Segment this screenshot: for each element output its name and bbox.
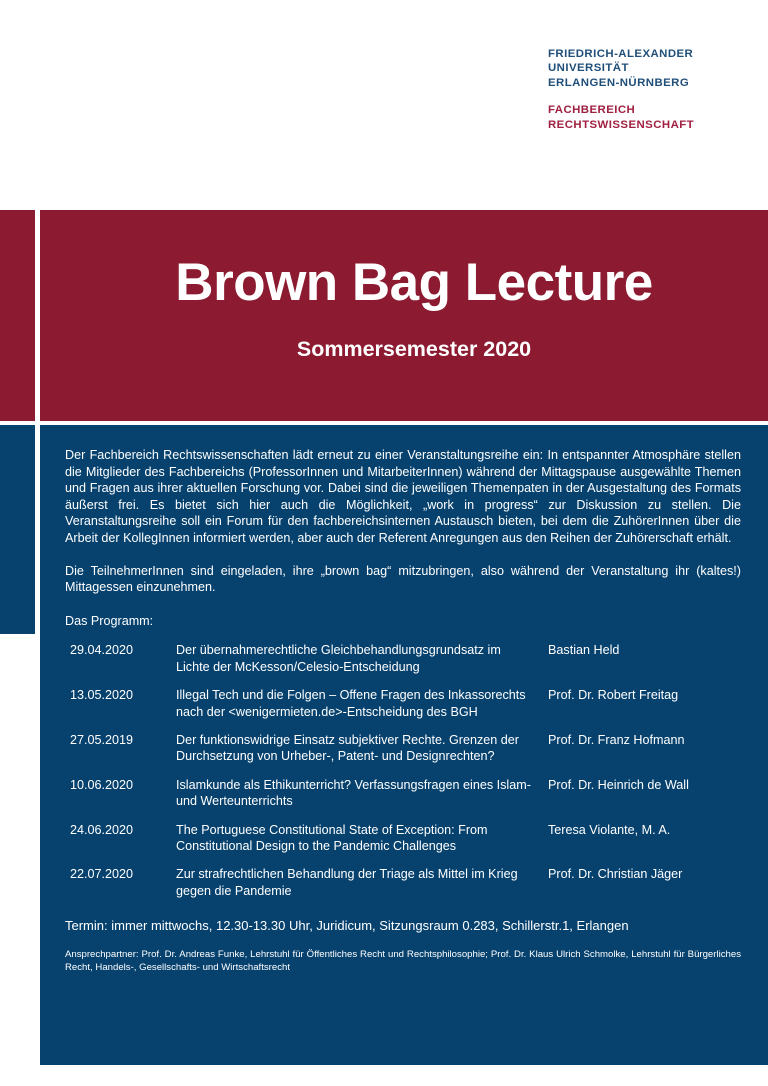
body-content-area: Der Fachbereich Rechtswissenschaften läd… [40, 425, 768, 1065]
table-row: 27.05.2019 Der funktionswidrige Einsatz … [65, 732, 741, 777]
logo-university-line-1: FRIEDRICH-ALEXANDER [548, 47, 694, 61]
program-title: The Portuguese Constitutional State of E… [176, 822, 548, 867]
program-date: 13.05.2020 [65, 687, 176, 732]
program-heading: Das Programm: [65, 613, 741, 630]
contact-line: Ansprechpartner: Prof. Dr. Andreas Funke… [65, 948, 741, 974]
logo-department-line-1: FACHBEREICH [548, 103, 694, 117]
program-date: 22.07.2020 [65, 866, 176, 911]
logo-text-block: FRIEDRICH-ALEXANDER UNIVERSITÄT ERLANGEN… [548, 33, 694, 132]
fau-wordmark-icon [408, 33, 536, 109]
fau-logo: FRIEDRICH-ALEXANDER UNIVERSITÄT ERLANGEN… [408, 33, 694, 132]
logo-university-line-3: ERLANGEN-NÜRNBERG [548, 76, 694, 90]
program-speaker: Prof. Dr. Robert Freitag [548, 687, 741, 732]
program-date: 29.04.2020 [65, 642, 176, 687]
table-row: 10.06.2020 Islamkunde als Ethikunterrich… [65, 777, 741, 822]
table-row: 24.06.2020 The Portuguese Constitutional… [65, 822, 741, 867]
program-title: Illegal Tech und die Folgen – Offene Fra… [176, 687, 548, 732]
program-title: Der funktionswidrige Einsatz subjektiver… [176, 732, 548, 777]
intro-paragraph-1: Der Fachbereich Rechtswissenschaften läd… [65, 447, 741, 547]
program-speaker: Prof. Dr. Heinrich de Wall [548, 777, 741, 822]
page-subtitle: Sommersemester 2020 [40, 336, 768, 362]
intro-paragraph-2: Die TeilnehmerInnen sind eingeladen, ihr… [65, 563, 741, 596]
program-date: 10.06.2020 [65, 777, 176, 822]
termin-line: Termin: immer mittwochs, 12.30-13.30 Uhr… [65, 917, 741, 934]
body-left-accent-block [0, 425, 35, 634]
program-title: Zur strafrechtlichen Behandlung der Tria… [176, 866, 548, 911]
program-speaker: Teresa Violante, M. A. [548, 822, 741, 867]
banner-left-accent-block [0, 210, 35, 421]
table-row: 13.05.2020 Illegal Tech und die Folgen –… [65, 687, 741, 732]
program-table: 29.04.2020 Der übernahmerechtliche Gleic… [65, 642, 741, 911]
table-row: 29.04.2020 Der übernahmerechtliche Gleic… [65, 642, 741, 687]
logo-university-line-2: UNIVERSITÄT [548, 61, 694, 75]
banner-title-area: Brown Bag Lecture Sommersemester 2020 [40, 210, 768, 421]
table-row: 22.07.2020 Zur strafrechtlichen Behandlu… [65, 866, 741, 911]
program-speaker: Prof. Dr. Christian Jäger [548, 866, 741, 911]
program-speaker: Prof. Dr. Franz Hofmann [548, 732, 741, 777]
page-title: Brown Bag Lecture [40, 252, 768, 314]
page-header: FRIEDRICH-ALEXANDER UNIVERSITÄT ERLANGEN… [0, 0, 768, 190]
program-title: Islamkunde als Ethikunterricht? Verfassu… [176, 777, 548, 822]
program-title: Der übernahmerechtliche Gleichbehandlung… [176, 642, 548, 687]
logo-department-line-2: RECHTSWISSENSCHAFT [548, 118, 694, 132]
program-speaker: Bastian Held [548, 642, 741, 687]
program-date: 27.05.2019 [65, 732, 176, 777]
program-date: 24.06.2020 [65, 822, 176, 867]
